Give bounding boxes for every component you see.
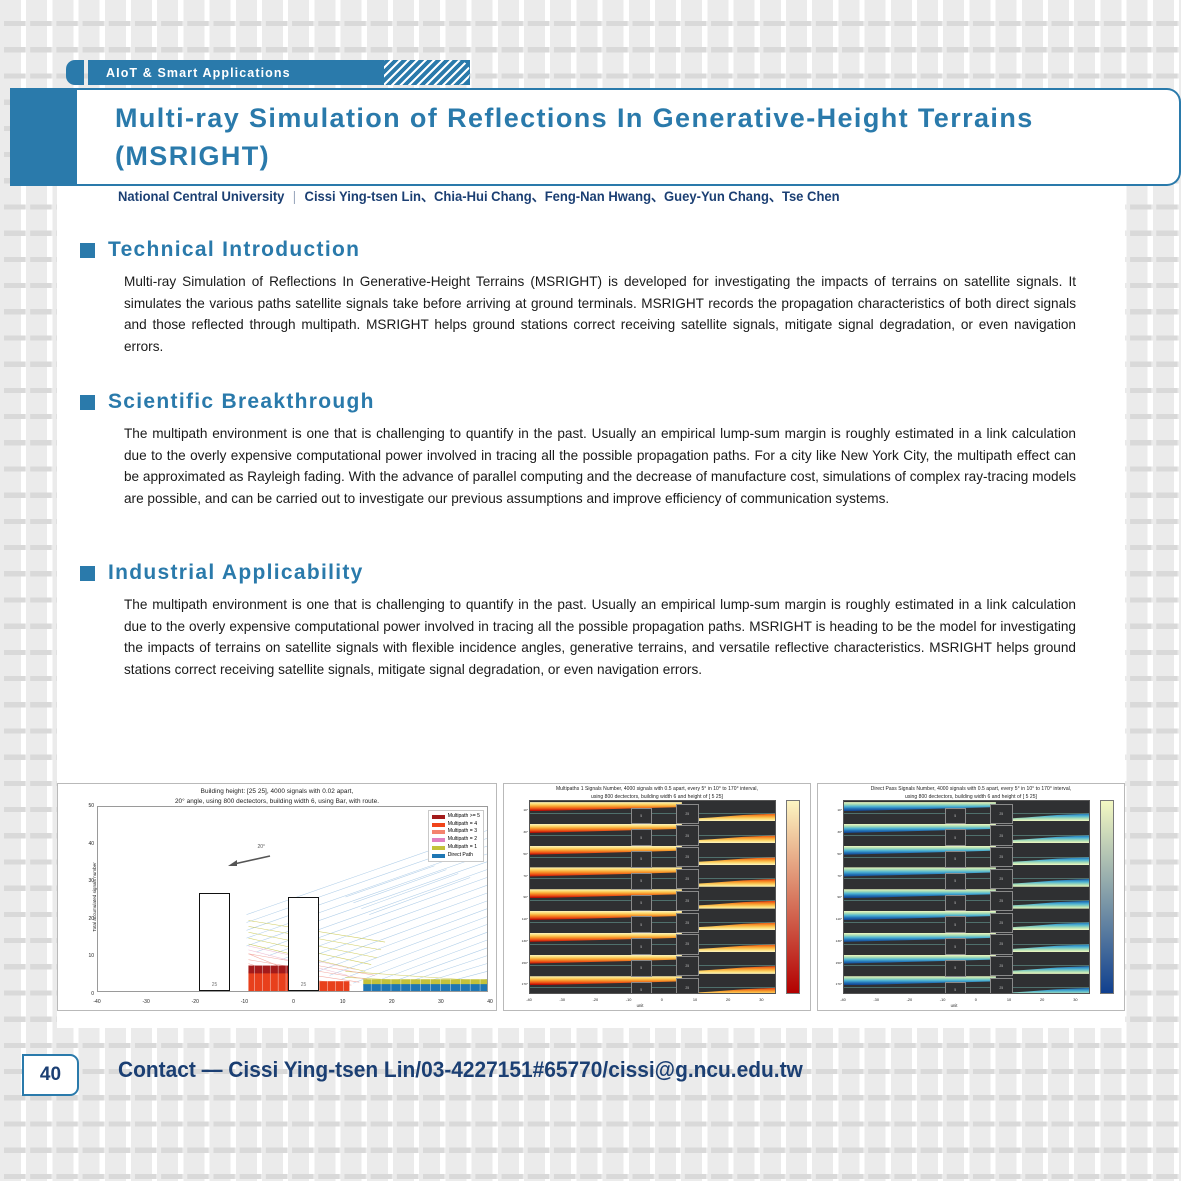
grid-line xyxy=(844,922,1089,923)
sub-building-right: 25 xyxy=(990,847,1013,867)
sub-building-left: 5 xyxy=(945,829,966,846)
figure-3-plot-area: 525525525525525525525525525 xyxy=(843,800,1090,994)
figure-3-x-axis-label: unit xyxy=(818,1003,1090,1008)
heat-band xyxy=(844,823,1089,845)
figure-y-tick: 110° xyxy=(822,917,842,921)
heat-streak xyxy=(844,824,996,833)
figure-3-title: Direct Pass Signals Number, 4000 signals… xyxy=(818,786,1124,801)
heat-streak xyxy=(530,867,682,876)
figure-1-y-tick: 40 xyxy=(78,841,94,847)
figure-x-tick: -30 xyxy=(873,997,879,1002)
section-header: Scientific Breakthrough xyxy=(80,390,1076,414)
section-body: The multipath environment is one that is… xyxy=(124,423,1076,509)
figure-1-x-tick: -20 xyxy=(192,999,199,1005)
figure-x-tick: 30 xyxy=(1073,997,1077,1002)
figure-directpath-heatmap: Direct Pass Signals Number, 4000 signals… xyxy=(817,783,1125,1011)
sub-building-left: 5 xyxy=(631,960,652,977)
figure-2-title: Multipaths 1 Signals Number, 4000 signal… xyxy=(504,786,810,801)
sub-building-label: 5 xyxy=(954,836,956,840)
sub-building-left: 5 xyxy=(631,873,652,890)
figure-2-x-axis-label: unit xyxy=(504,1003,776,1008)
sub-building-label: 25 xyxy=(999,964,1003,968)
section-title: Industrial Applicability xyxy=(108,561,364,585)
building-right: 25 xyxy=(288,897,319,991)
figure-y-tick: 30° xyxy=(508,830,528,834)
sub-building-left: 5 xyxy=(945,808,966,825)
heat-streak xyxy=(844,955,996,964)
sub-building-label: 5 xyxy=(954,923,956,927)
sub-building-label: 5 xyxy=(640,901,642,905)
figure-2-colorbar[interactable] xyxy=(786,800,800,994)
sub-building-label: 25 xyxy=(685,986,689,990)
sub-building-left: 5 xyxy=(631,982,652,994)
sub-building-label: 25 xyxy=(685,855,689,859)
sub-building-label: 5 xyxy=(640,879,642,883)
sub-building-label: 5 xyxy=(954,966,956,970)
grid-line xyxy=(530,987,775,988)
figure-x-tick: -20 xyxy=(907,997,913,1002)
legend-item: Multipath = 3 xyxy=(432,828,480,836)
figure-y-tick: 10° xyxy=(822,808,842,812)
heat-band xyxy=(844,845,1089,867)
tab-left-cap xyxy=(66,60,84,85)
heat-band xyxy=(530,910,775,932)
grid-line xyxy=(844,835,1089,836)
figure-x-tick: 10 xyxy=(1007,997,1011,1002)
figure-1-angle-annotation: 20° xyxy=(257,844,265,850)
title-accent-block xyxy=(10,88,77,186)
grid-line xyxy=(844,965,1089,966)
sub-building-right: 25 xyxy=(676,891,699,911)
sub-building-label: 25 xyxy=(999,812,1003,816)
figure-x-tick: -10 xyxy=(626,997,632,1002)
section-header: Technical Introduction xyxy=(80,238,1076,262)
figure-1-y-tick: 30 xyxy=(78,878,94,884)
heat-band xyxy=(530,823,775,845)
figure-y-tick: 170° xyxy=(508,982,528,986)
figure-x-tick: 20 xyxy=(726,997,730,1002)
figure-1-x-tick: 30 xyxy=(438,999,444,1005)
page-title: Multi-ray Simulation of Reflections In G… xyxy=(115,99,1115,176)
heat-band xyxy=(530,975,775,994)
sub-building-right: 25 xyxy=(990,825,1013,845)
heat-band xyxy=(844,932,1089,954)
sub-building-right: 25 xyxy=(676,978,699,994)
sub-building-right: 25 xyxy=(990,956,1013,976)
figure-x-tick: -20 xyxy=(593,997,599,1002)
sub-building-left: 5 xyxy=(945,938,966,955)
sub-building-right: 25 xyxy=(990,978,1013,994)
tab-label: AIoT & Smart Applications xyxy=(106,66,291,80)
heat-streak xyxy=(844,933,996,942)
sub-building-label: 5 xyxy=(954,814,956,818)
heat-streak xyxy=(844,867,996,876)
sub-building-label: 25 xyxy=(999,899,1003,903)
figure-1-y-tick: 50 xyxy=(78,803,94,809)
page-number: 40 xyxy=(40,1064,61,1086)
figure-2-plot-area: 525525525525525525525525525 xyxy=(529,800,776,994)
heat-band xyxy=(530,953,775,975)
sub-building-label: 25 xyxy=(685,942,689,946)
sub-building-label: 25 xyxy=(999,855,1003,859)
legend-item: Multipath = 2 xyxy=(432,836,480,844)
sub-building-label: 5 xyxy=(954,901,956,905)
sub-building-left: 5 xyxy=(945,982,966,994)
section-body: Multi-ray Simulation of Reflections In G… xyxy=(124,271,1076,357)
square-bullet-icon xyxy=(80,395,95,410)
sub-building-label: 25 xyxy=(685,899,689,903)
figure-1-x-tick: 10 xyxy=(340,999,346,1005)
grid-line xyxy=(530,813,775,814)
sub-building-left: 5 xyxy=(945,851,966,868)
sub-building-label: 25 xyxy=(999,942,1003,946)
author-line: National Central University|Cissi Ying-t… xyxy=(118,186,840,206)
figure-1-x-tick: -30 xyxy=(143,999,150,1005)
sub-building-label: 25 xyxy=(685,834,689,838)
sub-building-label: 25 xyxy=(999,921,1003,925)
figure-1-title: Building height: [25 25], 4000 signals w… xyxy=(58,787,496,806)
heat-streak xyxy=(530,933,682,942)
figure-1-x-tick: -10 xyxy=(241,999,248,1005)
figure-x-tick: -10 xyxy=(940,997,946,1002)
sub-building-right: 25 xyxy=(990,891,1013,911)
sub-building-label: 5 xyxy=(954,945,956,949)
figure-y-tick: 70° xyxy=(508,874,528,878)
figure-row: Building height: [25 25], 4000 signals w… xyxy=(57,783,1125,1011)
affiliation: National Central University xyxy=(118,188,284,204)
sub-building-left: 5 xyxy=(631,808,652,825)
grid-line xyxy=(844,900,1089,901)
sub-building-right: 25 xyxy=(676,804,699,824)
sub-building-left: 5 xyxy=(945,895,966,912)
sub-building-right: 25 xyxy=(676,869,699,889)
sub-building-left: 5 xyxy=(945,960,966,977)
section-title: Technical Introduction xyxy=(108,238,360,262)
sub-building-left: 5 xyxy=(945,916,966,933)
heat-streak xyxy=(844,889,996,898)
grid-line xyxy=(844,878,1089,879)
heat-band xyxy=(530,888,775,910)
sub-building-label: 5 xyxy=(640,814,642,818)
grid-line xyxy=(530,900,775,901)
grid-line xyxy=(844,987,1089,988)
legend-swatch xyxy=(432,815,445,819)
square-bullet-icon xyxy=(80,566,95,581)
sub-building-label: 25 xyxy=(999,986,1003,990)
figure-1-x-tick: 20 xyxy=(389,999,395,1005)
figure-y-tick: 90° xyxy=(822,895,842,899)
figure-x-tick: -30 xyxy=(559,997,565,1002)
sub-building-right: 25 xyxy=(676,825,699,845)
sub-building-label: 5 xyxy=(640,945,642,949)
figure-y-tick: 90° xyxy=(508,895,528,899)
section-industrial-applicability: Industrial Applicability The multipath e… xyxy=(80,561,1076,680)
figure-x-tick: 10 xyxy=(693,997,697,1002)
incidence-arrow-icon xyxy=(226,855,272,867)
heat-streak xyxy=(530,889,682,898)
legend-item: Multipath = 1 xyxy=(432,844,480,852)
sub-building-label: 5 xyxy=(640,988,642,992)
grid-line xyxy=(530,878,775,879)
figure-x-tick: 0 xyxy=(975,997,977,1002)
sub-building-left: 5 xyxy=(631,829,652,846)
grid-line xyxy=(844,813,1089,814)
legend-item: Multipath = 4 xyxy=(432,821,480,829)
grid-line xyxy=(844,857,1089,858)
heat-streak xyxy=(530,846,682,855)
sub-building-left: 5 xyxy=(631,916,652,933)
heat-streak xyxy=(844,802,996,811)
authors-list: Cissi Ying-tsen Lin、Chia-Hui Chang、Feng-… xyxy=(305,188,840,204)
figure-1-x-tick: -40 xyxy=(93,999,100,1005)
figure-y-tick: 170° xyxy=(822,982,842,986)
figure-y-tick: 130° xyxy=(822,939,842,943)
heat-band xyxy=(530,866,775,888)
heat-streak xyxy=(844,846,996,855)
sub-building-left: 5 xyxy=(945,873,966,890)
sub-building-right: 25 xyxy=(990,869,1013,889)
figure-x-tick: 0 xyxy=(661,997,663,1002)
square-bullet-icon xyxy=(80,243,95,258)
sub-building-label: 25 xyxy=(685,964,689,968)
heat-streak xyxy=(844,976,996,985)
grid-line xyxy=(844,944,1089,945)
grid-line xyxy=(530,922,775,923)
sub-building-label: 5 xyxy=(640,966,642,970)
sub-building-right: 25 xyxy=(990,913,1013,933)
sub-building-right: 25 xyxy=(990,804,1013,824)
section-technical-introduction: Technical Introduction Multi-ray Simulat… xyxy=(80,238,1076,357)
sub-building-label: 5 xyxy=(640,923,642,927)
sub-building-label: 5 xyxy=(954,988,956,992)
figure-1-x-tick: 0 xyxy=(292,999,295,1005)
figure-y-tick: 70° xyxy=(822,874,842,878)
sub-building-label: 5 xyxy=(640,836,642,840)
figure-1-y-tick: 20 xyxy=(78,916,94,922)
sub-building-right: 25 xyxy=(676,956,699,976)
sub-building-left: 5 xyxy=(631,851,652,868)
legend-swatch xyxy=(432,823,445,827)
figure-x-tick: 20 xyxy=(1040,997,1044,1002)
legend-swatch xyxy=(432,838,445,842)
category-tab: AIoT & Smart Applications xyxy=(66,60,470,85)
legend-swatch xyxy=(432,854,445,858)
figure-y-tick: 130° xyxy=(508,939,528,943)
grid-line xyxy=(530,965,775,966)
sub-building-right: 25 xyxy=(676,913,699,933)
figure-x-tick: -40 xyxy=(840,997,846,1002)
figure-1-plot-area: 25 25 20° Multipath >= 5 Multipath = 4 M… xyxy=(97,806,488,992)
figure-1-y-tick: 0 xyxy=(78,991,94,997)
heat-band xyxy=(530,845,775,867)
sub-building-label: 5 xyxy=(640,857,642,861)
heat-band xyxy=(844,975,1089,994)
sub-building-right: 25 xyxy=(990,934,1013,954)
figure-3-colorbar[interactable] xyxy=(1100,800,1114,994)
figure-y-tick: 30° xyxy=(822,830,842,834)
sub-building-label: 25 xyxy=(999,877,1003,881)
section-body: The multipath environment is one that is… xyxy=(124,594,1076,680)
page-number-badge: 40 xyxy=(22,1054,79,1096)
heat-band xyxy=(844,888,1089,910)
figure-x-tick: -40 xyxy=(526,997,532,1002)
sub-building-label: 5 xyxy=(954,879,956,883)
tab-body: AIoT & Smart Applications xyxy=(88,60,470,85)
figure-multipath-heatmap: Multipaths 1 Signals Number, 4000 signal… xyxy=(503,783,811,1011)
figure-1-y-tick: 10 xyxy=(78,953,94,959)
section-header: Industrial Applicability xyxy=(80,561,1076,585)
section-scientific-breakthrough: Scientific Breakthrough The multipath en… xyxy=(80,390,1076,509)
building-left: 25 xyxy=(199,893,230,991)
contact-line: Contact — Cissi Ying-tsen Lin/03-4227151… xyxy=(118,1057,803,1083)
heat-band xyxy=(844,910,1089,932)
heat-band xyxy=(844,953,1089,975)
heat-band xyxy=(844,866,1089,888)
sub-building-left: 5 xyxy=(631,895,652,912)
sub-building-label: 25 xyxy=(685,812,689,816)
legend-swatch xyxy=(432,830,445,834)
heat-streak xyxy=(530,955,682,964)
heat-streak xyxy=(530,976,682,985)
heat-streak xyxy=(844,911,996,920)
figure-3-y-ticks: 10°30°50°70°90°110°130°150°170° xyxy=(820,800,842,994)
sub-building-right: 25 xyxy=(676,934,699,954)
section-title: Scientific Breakthrough xyxy=(108,390,375,414)
sub-building-label: 25 xyxy=(685,921,689,925)
grid-line xyxy=(530,944,775,945)
heat-band xyxy=(844,801,1089,823)
sub-building-label: 5 xyxy=(954,857,956,861)
figure-y-tick: 110° xyxy=(508,917,528,921)
legend-item: Multipath >= 5 xyxy=(432,813,480,821)
sub-building-left: 5 xyxy=(631,938,652,955)
figure-raytracing: Building height: [25 25], 4000 signals w… xyxy=(57,783,497,1011)
tab-stripe-decoration xyxy=(384,60,470,85)
grid-line xyxy=(530,835,775,836)
figure-2-y-ticks: 10°30°50°70°90°110°130°150°170° xyxy=(506,800,528,994)
figure-y-tick: 150° xyxy=(508,961,528,965)
heat-band xyxy=(530,932,775,954)
figure-y-tick: 10° xyxy=(508,808,528,812)
author-separator: | xyxy=(284,188,304,204)
sub-building-label: 25 xyxy=(685,877,689,881)
figure-y-tick: 50° xyxy=(822,852,842,856)
figure-x-tick: 30 xyxy=(759,997,763,1002)
sub-building-label: 25 xyxy=(999,834,1003,838)
heat-band xyxy=(530,801,775,823)
figure-y-tick: 50° xyxy=(508,852,528,856)
heat-streak xyxy=(530,802,682,811)
figure-1-legend: Multipath >= 5 Multipath = 4 Multipath =… xyxy=(428,810,484,862)
grid-line xyxy=(530,857,775,858)
figure-1-x-tick: 40 xyxy=(487,999,493,1005)
heat-streak xyxy=(530,911,682,920)
legend-item: Direct Path xyxy=(432,852,480,860)
sub-building-right: 25 xyxy=(676,847,699,867)
figure-y-tick: 150° xyxy=(822,961,842,965)
legend-swatch xyxy=(432,846,445,850)
heat-streak xyxy=(530,824,682,833)
